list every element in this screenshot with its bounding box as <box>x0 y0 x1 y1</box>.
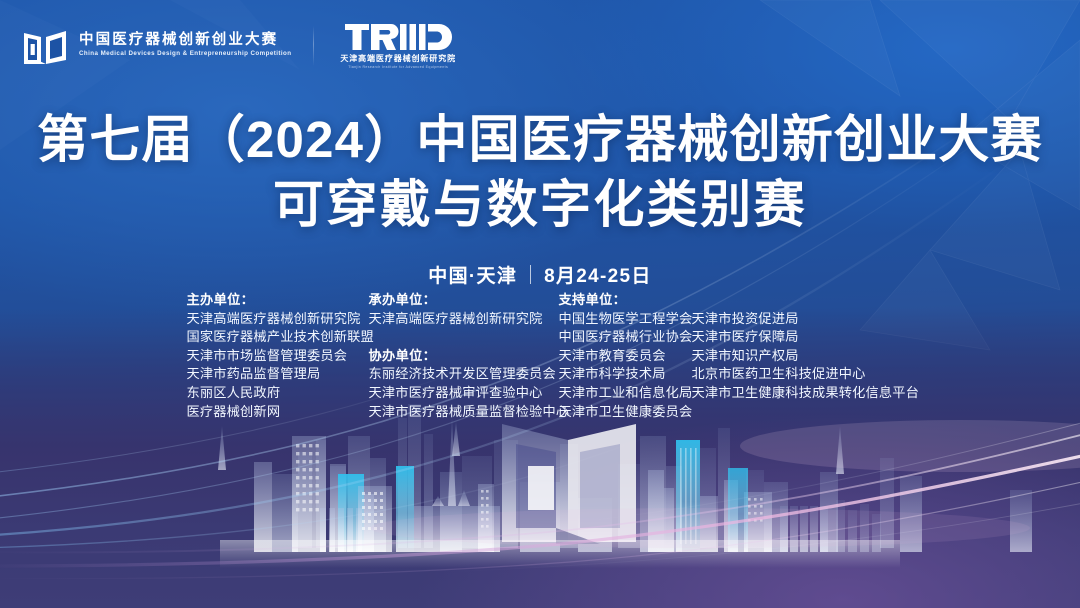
organizer-item: 天津市药品监督管理局 <box>187 365 369 384</box>
open-book-door-logo-mark-icon <box>22 24 68 68</box>
organizer-item: 国家医疗器械产业技术创新联盟 <box>187 328 369 347</box>
event-location: 中国·天津 <box>428 261 517 288</box>
logo-divider <box>313 26 314 66</box>
organizer-column-organizer: 承办单位： 天津高端医疗器械创新研究院 协办单位： 东丽经济技术开发区管理委员会… <box>369 291 559 421</box>
event-subtitle: 中国·天津 8月24-25日 <box>0 261 1080 288</box>
organizer-group-gap <box>369 328 559 347</box>
organizer-item: 天津市科学技术局 <box>559 365 692 384</box>
organizer-item: 天津市工业和信息化局 <box>559 384 692 403</box>
event-poster: 中国医疗器械创新创业大赛 China Medical Devices Desig… <box>0 0 1080 608</box>
organizer-item: 中国医疗器械行业协会 <box>559 328 692 347</box>
organizer-item: 天津高端医疗器械创新研究院 <box>187 310 369 329</box>
page-title-line-1: 第七届（2024）中国医疗器械创新创业大赛 <box>0 110 1080 170</box>
page-title-line-2: 可穿戴与数字化类别赛 <box>0 175 1080 235</box>
organizer-heading: 承办单位： <box>369 291 559 310</box>
competition-name-en: China Medical Devices Design & Entrepren… <box>79 51 291 58</box>
institute-name-en: Tianjin Research Institute for Advanced … <box>348 66 448 70</box>
subtitle-separator <box>530 265 531 284</box>
organizer-item: 东丽经济技术开发区管理委员会 <box>369 365 559 384</box>
organizer-item: 天津市医疗器械审评查验中心 <box>369 384 559 403</box>
organizer-item: 医疗器械创新网 <box>187 403 369 422</box>
institute-name-cn: 天津高端医疗器械创新研究院 <box>340 55 456 63</box>
triid-wordmark-icon <box>344 22 452 52</box>
organizer-heading: 主办单位： <box>187 291 369 310</box>
organizer-item: 北京市医药卫生科技促进中心 <box>692 365 902 384</box>
organizer-item: 天津市卫生健康科技成果转化信息平台 <box>692 384 902 403</box>
header-logo-bar: 中国医疗器械创新创业大赛 China Medical Devices Desig… <box>22 22 456 70</box>
organizer-item: 天津市医疗器械质量监督检验中心 <box>369 403 559 422</box>
organizer-item: 中国生物医学工程学会 <box>559 310 692 329</box>
organizer-item: 天津市知识产权局 <box>692 347 902 366</box>
organizer-heading: 协办单位： <box>369 347 559 366</box>
institute-logo: 天津高端医疗器械创新研究院 Tianjin Research Institute… <box>340 22 456 70</box>
organizer-item: 东丽区人民政府 <box>187 384 369 403</box>
organizer-item: 天津市投资促进局 <box>692 310 902 329</box>
organizer-column-supporter-b: 天津市投资促进局 天津市医疗保障局 天津市知识产权局 北京市医药卫生科技促进中心… <box>692 291 902 421</box>
organizers-block: 主办单位： 天津高端医疗器械创新研究院 国家医疗器械产业技术创新联盟 天津市市场… <box>0 291 1080 421</box>
organizer-column-spacer <box>692 291 902 310</box>
competition-logo: 中国医疗器械创新创业大赛 China Medical Devices Desig… <box>22 24 287 68</box>
organizer-heading: 支持单位： <box>559 291 692 310</box>
organizer-item: 天津市卫生健康委员会 <box>559 403 692 422</box>
organizer-item: 天津高端医疗器械创新研究院 <box>369 310 559 329</box>
organizer-item: 天津市医疗保障局 <box>692 328 902 347</box>
competition-name-cn: 中国医疗器械创新创业大赛 <box>79 33 287 49</box>
event-date: 8月24-25日 <box>544 261 652 288</box>
organizer-item: 天津市教育委员会 <box>559 347 692 366</box>
competition-logo-text: 中国医疗器械创新创业大赛 China Medical Devices Desig… <box>79 33 287 58</box>
organizer-item: 天津市市场监督管理委员会 <box>187 347 369 366</box>
organizer-column-supporter-a: 支持单位： 中国生物医学工程学会 中国医疗器械行业协会 天津市教育委员会 天津市… <box>559 291 692 421</box>
organizer-column-host: 主办单位： 天津高端医疗器械创新研究院 国家医疗器械产业技术创新联盟 天津市市场… <box>179 291 369 421</box>
title-block: 第七届（2024）中国医疗器械创新创业大赛 可穿戴与数字化类别赛 中国·天津 8… <box>0 110 1080 288</box>
